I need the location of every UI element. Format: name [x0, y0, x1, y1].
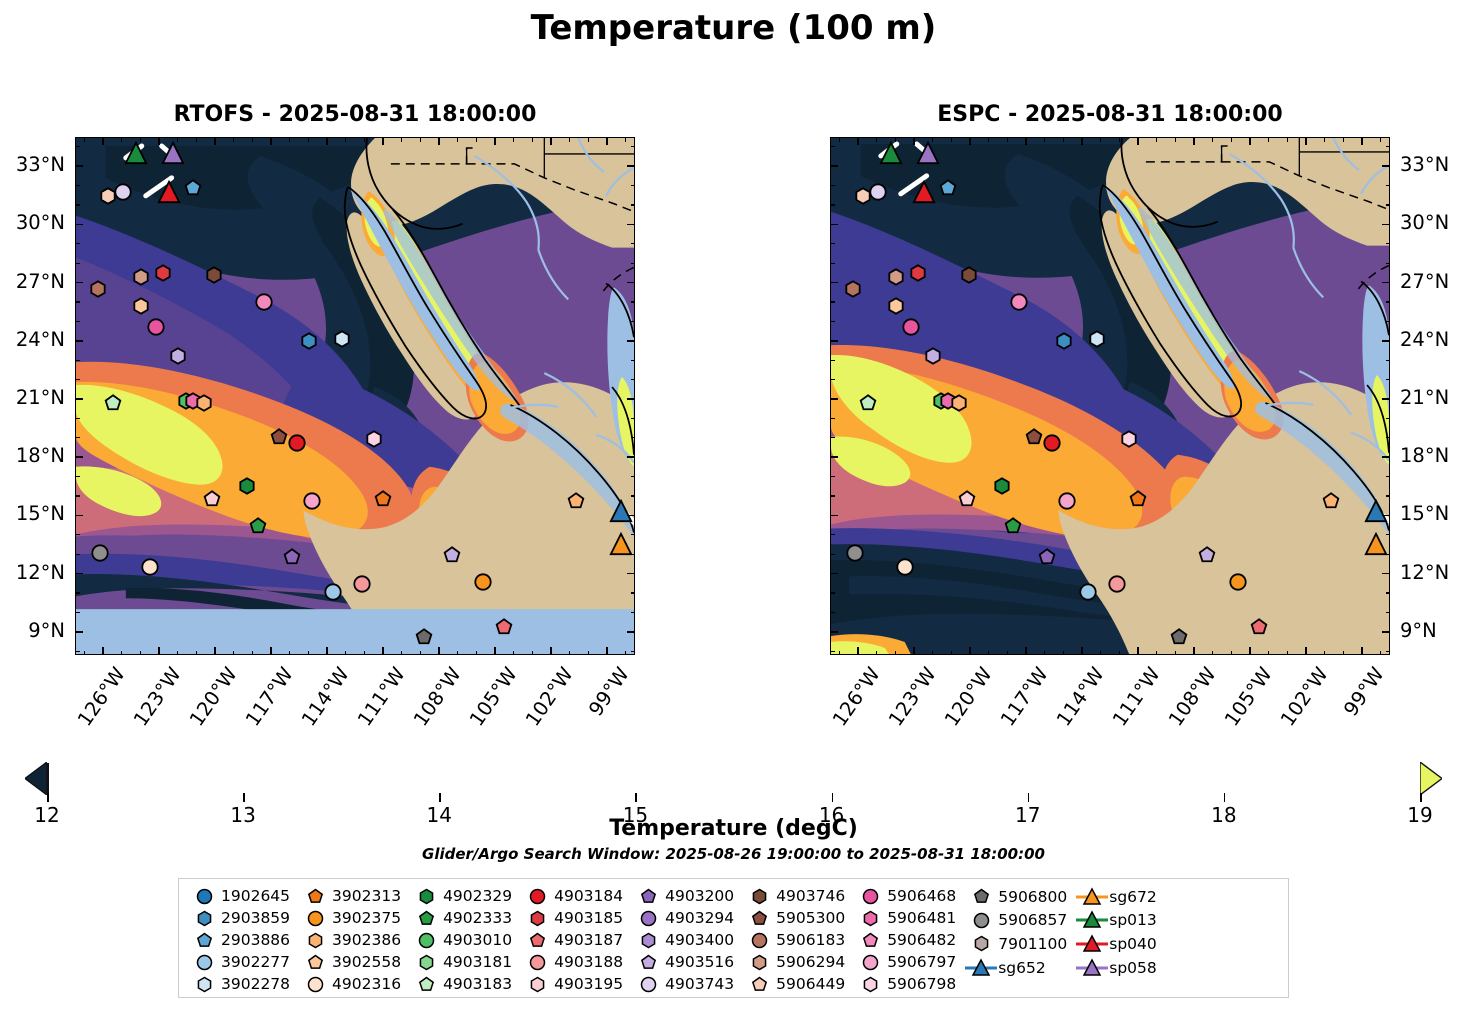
- legend-entry-5905300[interactable]: 5905300: [742, 907, 853, 929]
- observation-markers-espc[interactable]: [831, 138, 1389, 654]
- legend-entry-4903195[interactable]: 4903195: [520, 973, 631, 995]
- x-tickmark: [1305, 137, 1307, 145]
- legend-entry-4903200[interactable]: 4903200: [631, 885, 742, 907]
- map-axes-espc[interactable]: [830, 137, 1390, 655]
- map-marker-4902333[interactable]: [249, 517, 268, 540]
- map-marker-5906797[interactable]: [303, 492, 322, 515]
- map-marker-4903516[interactable]: [169, 347, 188, 370]
- map-marker-4903516b[interactable]: [442, 546, 461, 569]
- legend-entry-sp040[interactable]: sp040: [1075, 932, 1165, 956]
- y-minor-tickmark: [75, 418, 80, 419]
- x-minor-tickmark: [1119, 651, 1120, 656]
- x-minor-tickmark: [1268, 651, 1269, 656]
- x-minor-tickmark: [988, 137, 989, 142]
- map-marker-4903184[interactable]: [288, 434, 307, 457]
- y-minor-tickmark: [75, 243, 80, 244]
- map-marker-5906798[interactable]: [364, 430, 383, 453]
- map-marker-4903200[interactable]: [282, 548, 301, 571]
- y-minor-tickmark: [1386, 301, 1391, 302]
- hexagon-marker-icon: [853, 907, 887, 929]
- y-minor-tickmark: [830, 554, 835, 555]
- y-tickmark: [1382, 340, 1390, 342]
- legend-label: 4903746: [776, 887, 845, 905]
- legend-entry-2903886[interactable]: 2903886: [187, 929, 298, 951]
- map-marker-3902277[interactable]: [323, 583, 342, 606]
- map-marker-5906482[interactable]: [1009, 293, 1028, 316]
- legend-label: 4903200: [665, 887, 734, 905]
- y-ticklabel: 15°N: [0, 504, 65, 524]
- triangle-marker-icon: [1075, 957, 1109, 979]
- map-marker-4903516b[interactable]: [1197, 546, 1216, 569]
- y-tickmark: [1382, 573, 1390, 575]
- circle-marker-icon: [520, 885, 554, 907]
- observation-markers-rtofs[interactable]: [76, 138, 634, 654]
- legend-entry-5906294[interactable]: 5906294: [742, 951, 853, 973]
- legend-label: 4903183: [443, 975, 512, 993]
- legend-label: 4903188: [554, 953, 623, 971]
- legend-column: 19026452903859290388639022773902278: [187, 885, 298, 991]
- y-tickmark: [627, 224, 635, 226]
- hexagon-marker-icon: [964, 933, 998, 955]
- legend-entry-4903185[interactable]: 4903185: [520, 907, 631, 929]
- y-minor-tickmark: [631, 612, 636, 613]
- circle-marker-icon: [298, 973, 332, 995]
- map-marker-sp058[interactable]: [161, 141, 185, 169]
- legend-label: 5906481: [887, 909, 956, 927]
- legend-label: 4902329: [443, 887, 512, 905]
- y-minor-tickmark: [75, 554, 80, 555]
- x-tickmark: [913, 137, 915, 145]
- legend-label: 5906798: [887, 975, 956, 993]
- legend-entry-4903746[interactable]: 4903746: [742, 885, 853, 907]
- map-marker-2903886[interactable]: [184, 179, 203, 202]
- legend-entry-5906481[interactable]: 5906481: [853, 907, 964, 929]
- legend-entry-3902375[interactable]: 3902375: [298, 907, 409, 929]
- legend-entry-5906798[interactable]: 5906798: [853, 973, 964, 995]
- colorbar-tickmark: [439, 793, 441, 802]
- circle-marker-icon: [964, 909, 998, 931]
- x-tickmark: [1193, 137, 1195, 145]
- legend-entry-4903400[interactable]: 4903400: [631, 929, 742, 951]
- map-marker-3902558b[interactable]: [1322, 492, 1341, 515]
- map-marker-4902333[interactable]: [1004, 517, 1023, 540]
- map-marker-2903886[interactable]: [939, 179, 958, 202]
- y-ticklabel: 33°N: [1400, 155, 1467, 175]
- x-tickmark: [1137, 647, 1139, 655]
- y-tickmark: [75, 456, 83, 458]
- map-marker-4903746[interactable]: [204, 266, 223, 289]
- y-minor-tickmark: [830, 495, 835, 496]
- legend-column: 39023133902375390238639025584902316: [298, 885, 409, 991]
- map-marker-3902313[interactable]: [373, 490, 392, 513]
- x-tickmark: [606, 647, 608, 655]
- panel-title-right: ESPC - 2025-08-31 18:00:00: [830, 102, 1390, 127]
- search-window-note: Glider/Argo Search Window: 2025-08-26 19…: [0, 845, 1467, 863]
- y-minor-tickmark: [75, 301, 80, 302]
- legend-label: 5905300: [776, 909, 845, 927]
- y-minor-tickmark: [631, 437, 636, 438]
- y-ticklabel: 12°N: [0, 563, 65, 583]
- x-tickmark: [1137, 137, 1139, 145]
- x-minor-tickmark: [932, 137, 933, 142]
- x-minor-tickmark: [196, 651, 197, 656]
- y-minor-tickmark: [1386, 204, 1391, 205]
- y-tickmark: [627, 573, 635, 575]
- y-minor-tickmark: [830, 321, 835, 322]
- y-tickmark: [627, 515, 635, 517]
- legend-entry-3902386[interactable]: 3902386: [298, 929, 409, 951]
- pentagon-marker-icon: [631, 951, 665, 973]
- x-minor-tickmark: [252, 137, 253, 142]
- y-ticklabel: 18°N: [0, 446, 65, 466]
- legend-entry-4903188[interactable]: 4903188: [520, 951, 631, 973]
- legend-entry-1902645[interactable]: 1902645: [187, 885, 298, 907]
- x-tickmark: [270, 647, 272, 655]
- map-marker-5906798[interactable]: [1119, 430, 1138, 453]
- y-ticklabel: 27°N: [1400, 272, 1467, 292]
- legend-entry-4902333[interactable]: 4902333: [409, 907, 520, 929]
- legend-entry-3902278[interactable]: 3902278: [187, 973, 298, 995]
- y-tickmark: [627, 631, 635, 633]
- y-ticklabel: 12°N: [1400, 563, 1467, 583]
- x-minor-tickmark: [1156, 137, 1157, 142]
- legend-label: 5906482: [887, 931, 956, 949]
- x-minor-tickmark: [420, 137, 421, 142]
- map-marker-4903188[interactable]: [1108, 575, 1127, 598]
- map-marker-4903183[interactable]: [859, 393, 878, 416]
- map-marker-5906857[interactable]: [91, 544, 110, 567]
- x-minor-tickmark: [233, 137, 234, 142]
- map-marker-3902278[interactable]: [1087, 329, 1106, 352]
- map-marker-3902277[interactable]: [1078, 583, 1097, 606]
- legend-entry-4903187[interactable]: 4903187: [520, 929, 631, 951]
- y-minor-tickmark: [830, 651, 835, 652]
- legend-entry-2903859[interactable]: 2903859: [187, 907, 298, 929]
- figure-root: Temperature (100 m) RTOFS - 2025-08-31 1…: [0, 0, 1467, 1014]
- y-ticklabel: 21°N: [1400, 388, 1467, 408]
- map-marker-2903859[interactable]: [299, 331, 318, 354]
- y-minor-tickmark: [1386, 360, 1391, 361]
- y-tickmark: [830, 165, 838, 167]
- map-marker-3902278[interactable]: [332, 329, 351, 352]
- legend-entry-4903294[interactable]: 4903294: [631, 907, 742, 929]
- legend-entry-4902329[interactable]: 4902329: [409, 885, 520, 907]
- map-marker-3902375[interactable]: [474, 573, 493, 596]
- x-minor-tickmark: [364, 651, 365, 656]
- legend-label: 4903181: [443, 953, 512, 971]
- triangle-marker-icon: [1075, 933, 1109, 955]
- legend-column: 49031844903185490318749031884903195: [520, 885, 631, 991]
- colorbar[interactable]: [47, 763, 49, 793]
- map-marker-4903200[interactable]: [1037, 548, 1056, 571]
- map-marker-5906800[interactable]: [414, 627, 433, 650]
- legend-label: 4903184: [554, 887, 623, 905]
- x-minor-tickmark: [1044, 651, 1045, 656]
- y-minor-tickmark: [1386, 612, 1391, 613]
- x-minor-tickmark: [196, 137, 197, 142]
- x-minor-tickmark: [1100, 137, 1101, 142]
- y-ticklabel: 33°N: [0, 155, 65, 175]
- platform-legend[interactable]: 1902645290385929038863902277390227839023…: [178, 878, 1289, 998]
- x-minor-tickmark: [140, 651, 141, 656]
- pentagon-marker-icon: [520, 929, 554, 951]
- y-minor-tickmark: [631, 651, 636, 652]
- hexagon-marker-icon: [298, 929, 332, 951]
- legend-entry-4903010[interactable]: 4903010: [409, 929, 520, 951]
- hexagon-marker-icon: [742, 885, 776, 907]
- map-marker-5906183[interactable]: [844, 279, 863, 302]
- x-minor-tickmark: [289, 137, 290, 142]
- map-marker-2903859[interactable]: [1054, 331, 1073, 354]
- legend-entry-4903183[interactable]: 4903183: [409, 973, 520, 995]
- circle-marker-icon: [298, 907, 332, 929]
- y-minor-tickmark: [1386, 495, 1391, 496]
- map-marker-5906294[interactable]: [132, 268, 151, 291]
- map-marker-sp040[interactable]: [912, 180, 936, 208]
- x-tickmark: [494, 137, 496, 145]
- x-minor-tickmark: [84, 651, 85, 656]
- y-minor-tickmark: [75, 146, 80, 147]
- y-minor-tickmark: [631, 263, 636, 264]
- map-marker-4902329[interactable]: [238, 476, 257, 499]
- y-minor-tickmark: [631, 592, 636, 593]
- map-marker-4903185[interactable]: [909, 264, 928, 287]
- hexagon-marker-icon: [520, 907, 554, 929]
- x-tickmark: [1361, 137, 1363, 145]
- legend-entry-sg672[interactable]: sg672: [1075, 885, 1165, 909]
- map-marker-5906468[interactable]: [901, 318, 920, 341]
- legend-entry-4902316[interactable]: 4902316: [298, 973, 409, 995]
- legend-entry-5906449[interactable]: 5906449: [742, 973, 853, 995]
- x-tickmark: [606, 137, 608, 145]
- legend-entry-5906797[interactable]: 5906797: [853, 951, 964, 973]
- map-marker-4903516[interactable]: [924, 347, 943, 370]
- y-minor-tickmark: [1386, 146, 1391, 147]
- y-tickmark: [627, 282, 635, 284]
- x-minor-tickmark: [1287, 137, 1288, 142]
- legend-label: 5906468: [887, 887, 956, 905]
- legend-entry-5906857[interactable]: 5906857: [964, 909, 1075, 933]
- map-marker-4902329[interactable]: [993, 476, 1012, 499]
- map-marker-3902558[interactable]: [887, 297, 906, 320]
- y-minor-tickmark: [830, 379, 835, 380]
- y-minor-tickmark: [830, 185, 835, 186]
- x-tickmark: [102, 647, 104, 655]
- legend-entry-sg652[interactable]: sg652: [964, 956, 1075, 980]
- y-tickmark: [830, 224, 838, 226]
- figure-suptitle: Temperature (100 m): [0, 8, 1467, 48]
- map-marker-3902558b[interactable]: [567, 492, 586, 515]
- map-marker-4903743[interactable]: [868, 183, 887, 206]
- y-minor-tickmark: [631, 379, 636, 380]
- map-marker-sg652[interactable]: [609, 499, 633, 527]
- x-minor-tickmark: [625, 137, 626, 142]
- x-minor-tickmark: [1044, 137, 1045, 142]
- x-tickmark: [550, 137, 552, 145]
- colorbar-tickmark: [1224, 793, 1226, 802]
- y-minor-tickmark: [1386, 379, 1391, 380]
- x-minor-tickmark: [252, 651, 253, 656]
- y-minor-tickmark: [631, 418, 636, 419]
- legend-label: 4903185: [554, 909, 623, 927]
- y-minor-tickmark: [830, 263, 835, 264]
- map-marker-sg672[interactable]: [609, 532, 633, 560]
- x-tickmark: [969, 137, 971, 145]
- map-marker-4902316[interactable]: [141, 557, 160, 580]
- y-minor-tickmark: [75, 651, 80, 652]
- legend-label: sp013: [1109, 911, 1157, 929]
- map-marker-4903184[interactable]: [1043, 434, 1062, 457]
- y-minor-tickmark: [1386, 263, 1391, 264]
- map-marker-sp040[interactable]: [157, 180, 181, 208]
- legend-label: 4903010: [443, 931, 512, 949]
- legend-entry-5906468[interactable]: 5906468: [853, 885, 964, 907]
- x-minor-tickmark: [951, 137, 952, 142]
- x-tickmark: [382, 137, 384, 145]
- legend-column: sg672 sp013 sp040 sp058: [1075, 885, 1165, 991]
- circle-marker-icon: [742, 929, 776, 951]
- legend-entry-5906482[interactable]: 5906482: [853, 929, 964, 951]
- map-marker-4903183[interactable]: [104, 393, 123, 416]
- legend-label: 3902313: [332, 887, 401, 905]
- map-marker-4903187[interactable]: [1249, 617, 1268, 640]
- y-ticklabel: 18°N: [1400, 446, 1467, 466]
- x-minor-tickmark: [876, 137, 877, 142]
- y-minor-tickmark: [631, 301, 636, 302]
- x-minor-tickmark: [1007, 137, 1008, 142]
- pentagon-marker-icon: [742, 907, 776, 929]
- hexagon-marker-icon: [409, 885, 443, 907]
- x-minor-tickmark: [588, 651, 589, 656]
- map-marker-5906294[interactable]: [887, 268, 906, 291]
- map-marker-5905300[interactable]: [1024, 428, 1043, 451]
- map-axes-rtofs[interactable]: [75, 137, 635, 655]
- x-tickmark: [326, 137, 328, 145]
- map-marker-3902313[interactable]: [1128, 490, 1147, 513]
- y-minor-tickmark: [1386, 651, 1391, 652]
- map-marker-5905300[interactable]: [269, 428, 288, 451]
- x-minor-tickmark: [177, 137, 178, 142]
- x-tickmark: [1081, 647, 1083, 655]
- map-marker-4903743[interactable]: [113, 183, 132, 206]
- y-ticklabel: 27°N: [0, 272, 65, 292]
- legend-entry-4903743[interactable]: 4903743: [631, 973, 742, 995]
- map-marker-4903185[interactable]: [154, 264, 173, 287]
- map-marker-4903746[interactable]: [959, 266, 978, 289]
- hexagon-marker-icon: [853, 973, 887, 995]
- x-minor-tickmark: [1175, 137, 1176, 142]
- x-minor-tickmark: [1380, 137, 1381, 142]
- legend-entry-4903181[interactable]: 4903181: [409, 951, 520, 973]
- map-marker-5906800[interactable]: [1169, 627, 1188, 650]
- y-tickmark: [1382, 456, 1390, 458]
- y-tickmark: [830, 456, 838, 458]
- map-marker-5906468[interactable]: [146, 318, 165, 341]
- map-marker-3902386[interactable]: [195, 393, 214, 416]
- legend-entry-4903516[interactable]: 4903516: [631, 951, 742, 973]
- legend-entry-sp013[interactable]: sp013: [1075, 909, 1165, 933]
- x-minor-tickmark: [1231, 137, 1232, 142]
- x-tickmark: [270, 137, 272, 145]
- y-tickmark: [830, 340, 838, 342]
- legend-entry-7901100[interactable]: 7901100: [964, 932, 1075, 956]
- y-tickmark: [627, 398, 635, 400]
- map-marker-sg652[interactable]: [1364, 499, 1388, 527]
- legend-entry-5906183[interactable]: 5906183: [742, 929, 853, 951]
- legend-entry-sp058[interactable]: sp058: [1075, 956, 1165, 980]
- map-marker-5906482[interactable]: [254, 293, 273, 316]
- y-ticklabel: 15°N: [1400, 504, 1467, 524]
- legend-label: 3902375: [332, 909, 401, 927]
- x-minor-tickmark: [457, 651, 458, 656]
- legend-entry-3902313[interactable]: 3902313: [298, 885, 409, 907]
- y-tickmark: [627, 340, 635, 342]
- y-tickmark: [1382, 515, 1390, 517]
- map-marker-5906183[interactable]: [89, 279, 108, 302]
- y-tickmark: [830, 398, 838, 400]
- map-marker-3902386[interactable]: [950, 393, 969, 416]
- y-tickmark: [75, 165, 83, 167]
- legend-entry-4903184[interactable]: 4903184: [520, 885, 631, 907]
- map-marker-4903195[interactable]: [202, 490, 221, 513]
- x-tickmark: [1025, 137, 1027, 145]
- map-marker-sp013[interactable]: [879, 141, 903, 169]
- map-marker-4903188[interactable]: [353, 575, 372, 598]
- y-tickmark: [627, 165, 635, 167]
- y-minor-tickmark: [631, 495, 636, 496]
- hexagon-marker-icon: [187, 907, 221, 929]
- colorbar-over-extend: [1420, 762, 1442, 795]
- map-marker-3902558[interactable]: [132, 297, 151, 320]
- legend-column: 59064685906481590648259067975906798: [853, 885, 964, 991]
- legend-entry-5906800[interactable]: 5906800: [964, 885, 1075, 909]
- map-marker-4903195[interactable]: [957, 490, 976, 513]
- map-marker-4903187[interactable]: [494, 617, 513, 640]
- x-minor-tickmark: [1175, 651, 1176, 656]
- x-tickmark: [214, 647, 216, 655]
- y-ticklabel: 21°N: [0, 388, 65, 408]
- map-marker-5906857[interactable]: [846, 544, 865, 567]
- legend-label: 1902645: [221, 887, 290, 905]
- legend-entry-3902277[interactable]: 3902277: [187, 951, 298, 973]
- x-minor-tickmark: [569, 651, 570, 656]
- circle-marker-icon: [187, 951, 221, 973]
- y-minor-tickmark: [631, 360, 636, 361]
- y-minor-tickmark: [830, 360, 835, 361]
- legend-label: 4903187: [554, 931, 623, 949]
- x-tickmark: [969, 647, 971, 655]
- map-marker-3902375[interactable]: [1229, 573, 1248, 596]
- legend-label: 3902558: [332, 953, 401, 971]
- x-tickmark: [1305, 647, 1307, 655]
- map-marker-sp013[interactable]: [124, 141, 148, 169]
- map-marker-sp058[interactable]: [916, 141, 940, 169]
- x-minor-tickmark: [1343, 137, 1344, 142]
- map-marker-4902316[interactable]: [896, 557, 915, 580]
- y-minor-tickmark: [830, 204, 835, 205]
- y-minor-tickmark: [1386, 534, 1391, 535]
- legend-entry-3902558[interactable]: 3902558: [298, 951, 409, 973]
- map-marker-5906797[interactable]: [1058, 492, 1077, 515]
- y-tickmark: [75, 340, 83, 342]
- legend-label: sg652: [998, 959, 1046, 977]
- x-minor-tickmark: [345, 137, 346, 142]
- map-marker-sg672[interactable]: [1364, 532, 1388, 560]
- hexagon-marker-icon: [631, 929, 665, 951]
- pentagon-marker-icon: [853, 929, 887, 951]
- y-tickmark: [75, 224, 83, 226]
- y-minor-tickmark: [1386, 554, 1391, 555]
